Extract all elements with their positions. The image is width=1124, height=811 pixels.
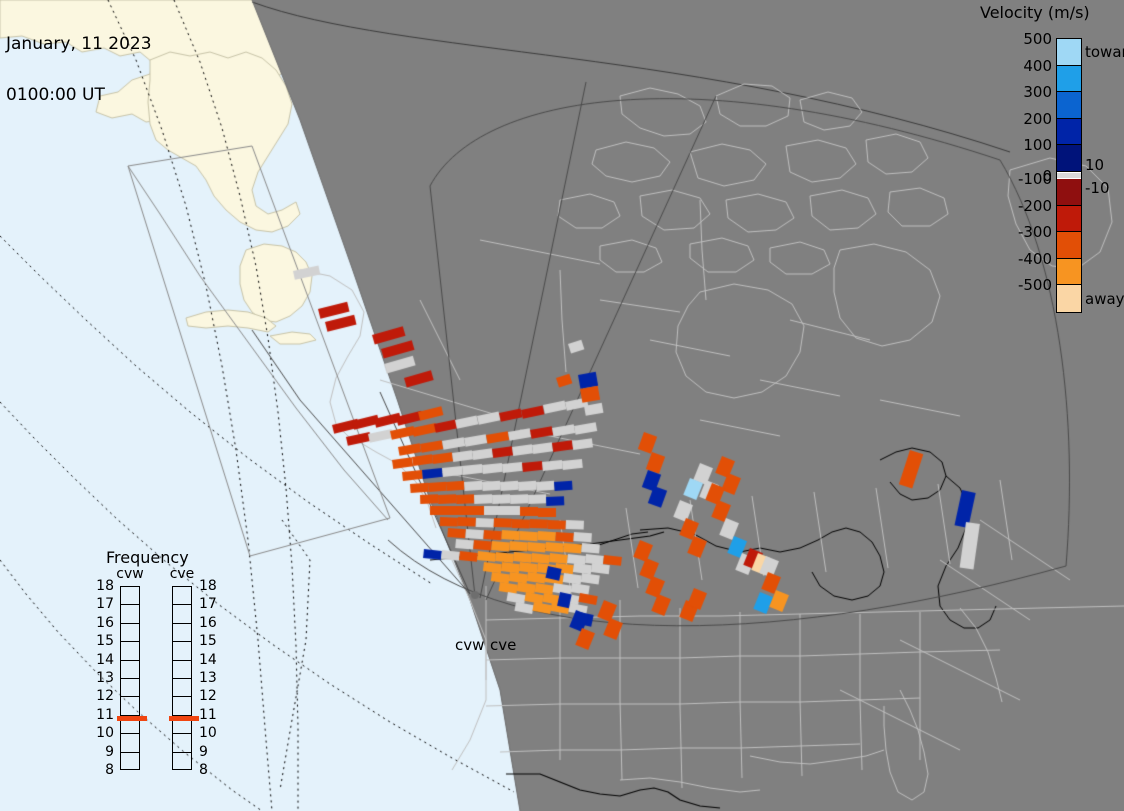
frequency-bar-row xyxy=(173,661,191,679)
frequency-bar-row xyxy=(121,642,139,660)
title-time: 0100:00 UT xyxy=(6,87,152,104)
frequency-bar-row xyxy=(173,697,191,715)
superdarn-velocity-map: January, 11 2023 0100:00 UT Velocity (m/… xyxy=(0,0,1124,811)
frequency-scale-label: 16 xyxy=(199,615,217,631)
frequency-marker-cve xyxy=(169,716,199,721)
colorbar-segment xyxy=(1057,145,1081,172)
frequency-column-label-cve: cve xyxy=(160,566,204,582)
colorbar-segment xyxy=(1057,119,1081,146)
frequency-scale-label: 11 xyxy=(94,707,114,723)
frequency-bar-row xyxy=(121,753,139,771)
colorbar-segment xyxy=(1057,66,1081,93)
frequency-scale-label: 14 xyxy=(199,652,217,668)
colorbar-negative-threshold-label: -10 xyxy=(1085,179,1110,197)
frequency-scale-label: 9 xyxy=(94,744,114,760)
frequency-scale-label: 16 xyxy=(94,615,114,631)
frequency-scale-label: 17 xyxy=(94,596,114,612)
velocity-colorbar: Velocity (m/s) 5004003002001000-100-200-… xyxy=(975,0,1124,340)
frequency-scale-label: 13 xyxy=(94,670,114,686)
colorbar-segment xyxy=(1057,259,1081,286)
frequency-bar-row xyxy=(173,587,191,605)
colorbar-tick-label: 100 xyxy=(982,136,1052,154)
frequency-scale-label: 12 xyxy=(94,688,114,704)
frequency-scale-label: 18 xyxy=(94,578,114,594)
colorbar-tick-label: -200 xyxy=(982,197,1052,215)
colorbar-segment xyxy=(1057,232,1081,259)
frequency-bar-row xyxy=(173,734,191,752)
colorbar-away-label: away xyxy=(1085,290,1124,308)
frequency-bar-row xyxy=(173,605,191,623)
frequency-column-label-cvw: cvw xyxy=(108,566,152,582)
frequency-scale-label: 15 xyxy=(94,633,114,649)
frequency-bar-row xyxy=(121,697,139,715)
frequency-scale-label: 9 xyxy=(199,744,208,760)
radar-site-label-cvw: cvw xyxy=(455,636,484,654)
colorbar-positive-threshold-label: 10 xyxy=(1085,156,1104,174)
colorbar-tick-label: 400 xyxy=(982,57,1052,75)
frequency-bar-row xyxy=(121,605,139,623)
colorbar-gradient xyxy=(1056,38,1082,313)
colorbar-segment xyxy=(1057,39,1081,66)
frequency-bar-cve xyxy=(172,586,192,770)
frequency-scale-label: 10 xyxy=(94,725,114,741)
frequency-bar-row xyxy=(121,587,139,605)
frequency-scale-label: 13 xyxy=(199,670,217,686)
frequency-marker-cvw xyxy=(117,716,147,721)
colorbar-toward-label: toward xyxy=(1085,43,1124,61)
title-date: January, 11 2023 xyxy=(6,36,152,53)
frequency-legend-title: Frequency xyxy=(106,548,189,567)
frequency-scale-label: 8 xyxy=(94,762,114,778)
colorbar-tick-label: -500 xyxy=(982,276,1052,294)
colorbar-segment xyxy=(1057,179,1081,206)
frequency-bar-row xyxy=(173,642,191,660)
colorbar-tick-label: -300 xyxy=(982,223,1052,241)
frequency-bar-row xyxy=(173,679,191,697)
frequency-bar-row xyxy=(121,734,139,752)
frequency-scale-label: 15 xyxy=(199,633,217,649)
colorbar-segment xyxy=(1057,206,1081,233)
colorbar-tick-label: 200 xyxy=(982,110,1052,128)
colorbar-segment xyxy=(1057,285,1081,312)
colorbar-tick-label: -400 xyxy=(982,250,1052,268)
frequency-scale-label: 12 xyxy=(199,688,217,704)
colorbar-tick-label: -100 xyxy=(982,170,1052,188)
frequency-scale-label: 11 xyxy=(199,707,217,723)
colorbar-side-labels: toward10-10away xyxy=(1085,38,1124,313)
frequency-scale-label: 17 xyxy=(199,596,217,612)
radar-site-label-cve: cve xyxy=(490,636,516,654)
colorbar-tick-labels: 5004003002001000-100-200-300-400-500 xyxy=(980,38,1052,313)
timestamp-title: January, 11 2023 0100:00 UT xyxy=(6,2,152,138)
frequency-bar-cvw xyxy=(120,586,140,770)
frequency-scale-label: 10 xyxy=(199,725,217,741)
colorbar-zero-band xyxy=(1057,172,1081,179)
colorbar-title: Velocity (m/s) xyxy=(980,3,1090,22)
frequency-scale-label: 8 xyxy=(199,762,208,778)
frequency-legend: Frequency cvw18171615141312111098cve1817… xyxy=(88,548,238,788)
frequency-bar-row xyxy=(121,679,139,697)
frequency-bar-row xyxy=(173,624,191,642)
frequency-bar-row xyxy=(121,624,139,642)
frequency-bar-row xyxy=(173,753,191,771)
frequency-scale-label: 18 xyxy=(199,578,217,594)
frequency-bar-row xyxy=(121,661,139,679)
colorbar-tick-label: 500 xyxy=(982,30,1052,48)
colorbar-tick-label: 300 xyxy=(982,83,1052,101)
frequency-scale-label: 14 xyxy=(94,652,114,668)
colorbar-segment xyxy=(1057,92,1081,119)
